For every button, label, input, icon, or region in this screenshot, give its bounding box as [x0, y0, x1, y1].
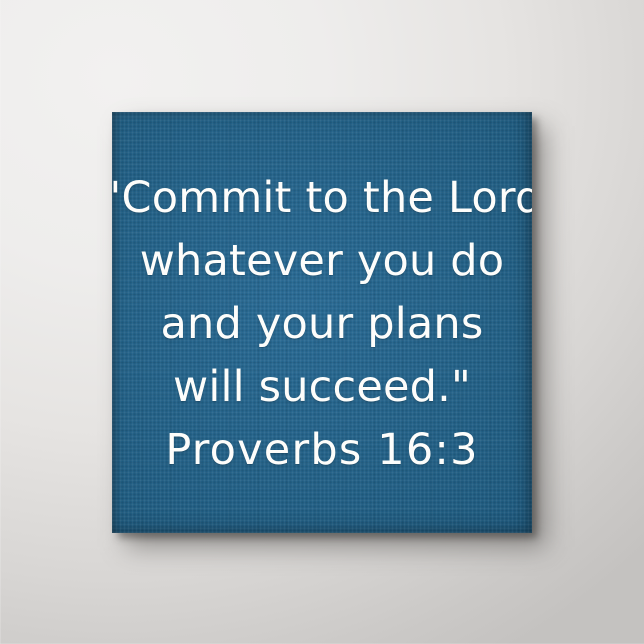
product-photo-scene: "Commit to the Lord whatever you do and …: [0, 0, 644, 644]
verse-line-2: whatever you do: [140, 230, 505, 293]
verse-reference: Proverbs 16:3: [165, 419, 478, 482]
verse-line-1: "Commit to the Lord: [112, 167, 532, 230]
verse-text-block: "Commit to the Lord whatever you do and …: [112, 112, 532, 533]
canvas-print[interactable]: "Commit to the Lord whatever you do and …: [112, 112, 532, 533]
verse-line-4: will succeed.": [173, 356, 471, 419]
verse-line-3: and your plans: [161, 293, 484, 356]
